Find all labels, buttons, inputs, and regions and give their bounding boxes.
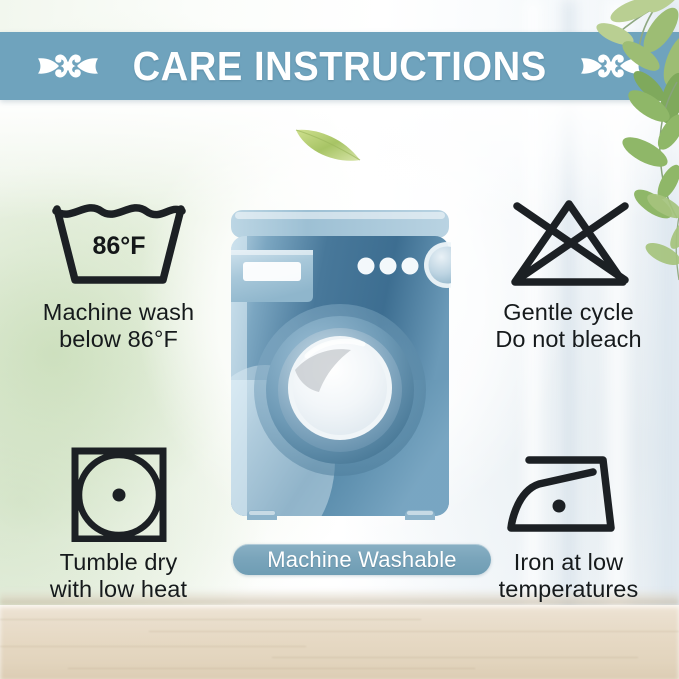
care-symbol-tumble-dry: Tumble dry with low heat bbox=[16, 446, 221, 604]
control-buttons bbox=[358, 258, 419, 275]
wash-temperature-value: 86°F bbox=[92, 232, 145, 260]
crossed-triangle-icon bbox=[495, 196, 643, 292]
fleur-de-lis-ornament-right bbox=[578, 43, 644, 89]
tumble-dry-low-icon bbox=[45, 446, 193, 542]
care-instructions-infographic: CARE INSTRUCTIONS bbox=[0, 0, 679, 679]
care-symbol-no-bleach: Gentle cycle Do not bleach bbox=[466, 196, 671, 354]
fleur-de-lis-ornament-left bbox=[35, 43, 101, 89]
machine-door bbox=[254, 304, 426, 476]
machine-washable-badge: Machine Washable bbox=[233, 544, 491, 575]
detergent-drawer bbox=[231, 250, 313, 302]
wooden-table-surface bbox=[0, 605, 679, 679]
care-symbol-caption: Tumble dry with low heat bbox=[50, 549, 187, 604]
care-symbol-caption: Iron at low temperatures bbox=[499, 549, 639, 604]
page-title: CARE INSTRUCTIONS bbox=[132, 46, 546, 87]
iron-one-dot-icon bbox=[495, 446, 643, 542]
care-symbol-caption: Gentle cycle Do not bleach bbox=[495, 299, 641, 354]
care-symbol-machine-wash: 86°F Machine wash below 86°F bbox=[16, 196, 221, 354]
washing-machine-illustration bbox=[229, 210, 451, 520]
care-symbol-iron: Iron at low temperatures bbox=[466, 446, 671, 604]
wash-tub-icon: 86°F bbox=[45, 196, 193, 292]
badge-label: Machine Washable bbox=[267, 547, 456, 573]
care-symbol-caption: Machine wash below 86°F bbox=[43, 299, 194, 354]
header-banner: CARE INSTRUCTIONS bbox=[0, 32, 679, 100]
